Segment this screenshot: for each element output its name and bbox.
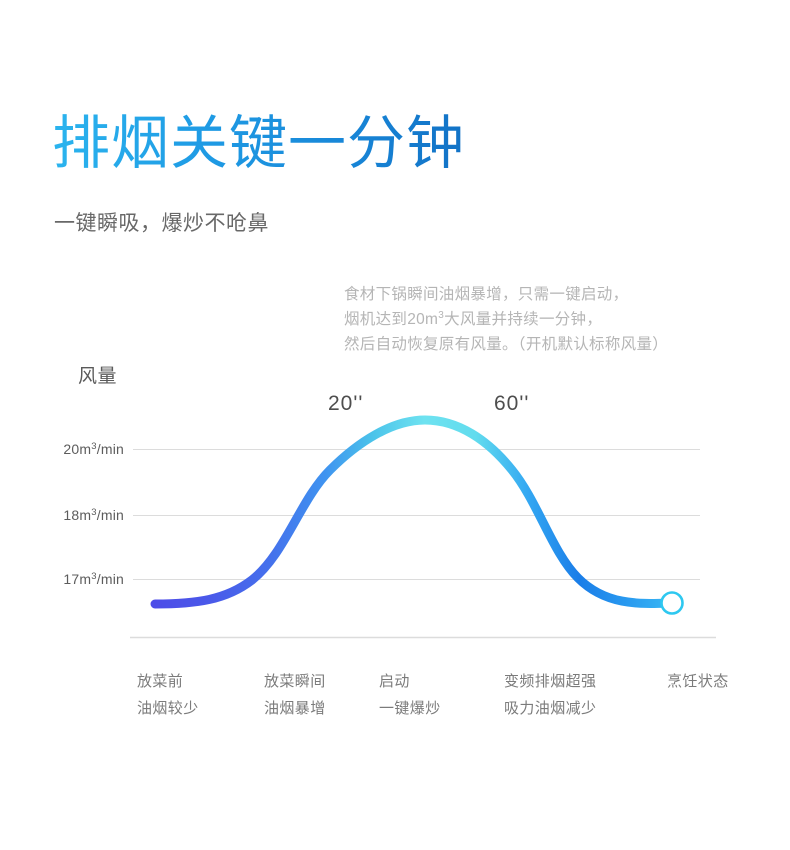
x-axis-label-1-line2: 油烟暴增 xyxy=(264,695,326,722)
y-tick-label-20: 20m3/min xyxy=(24,441,124,457)
y-tick-17-number: 17m xyxy=(63,571,91,587)
annotation-20-seconds: 20'' xyxy=(328,392,363,416)
chart-gridlines xyxy=(133,450,700,580)
x-axis-label-3-line1: 变频排烟超强 xyxy=(504,673,596,690)
y-tick-20-unit: /min xyxy=(97,441,124,457)
y-tick-17-unit: /min xyxy=(97,571,124,587)
curve-end-marker xyxy=(662,593,683,614)
y-axis-title: 风量 xyxy=(78,361,117,388)
y-tick-label-17: 17m3/min xyxy=(24,571,124,587)
x-axis-label-4-line1: 烹饪状态 xyxy=(667,673,729,690)
x-axis-label-2-line2: 一键爆炒 xyxy=(379,695,441,722)
x-axis-label-1-line1: 放菜瞬间 xyxy=(264,673,326,690)
x-axis-label-0-line1: 放菜前 xyxy=(137,673,183,690)
x-axis-label-2: 启动 一键爆炒 xyxy=(379,668,441,722)
x-axis-label-3: 变频排烟超强 吸力油烟减少 xyxy=(504,668,596,722)
x-axis-label-1: 放菜瞬间 油烟暴增 xyxy=(264,668,326,722)
x-axis-label-4: 烹饪状态 xyxy=(667,668,729,695)
y-tick-18-number: 18m xyxy=(63,507,91,523)
y-tick-18-unit: /min xyxy=(97,507,124,523)
airflow-chart: 风量 20m3/min 18m3/min 17m3/min 20'' 60'' … xyxy=(0,0,790,850)
chart-canvas xyxy=(0,0,790,850)
x-axis-label-3-line2: 吸力油烟减少 xyxy=(504,695,596,722)
airflow-curve xyxy=(155,420,672,604)
y-tick-20-number: 20m xyxy=(63,441,91,457)
x-axis-label-2-line1: 启动 xyxy=(379,673,410,690)
x-axis-label-0-line2: 油烟较少 xyxy=(137,695,199,722)
annotation-60-seconds: 60'' xyxy=(494,392,529,416)
y-tick-label-18: 18m3/min xyxy=(24,507,124,523)
x-axis-label-0: 放菜前 油烟较少 xyxy=(137,668,199,722)
